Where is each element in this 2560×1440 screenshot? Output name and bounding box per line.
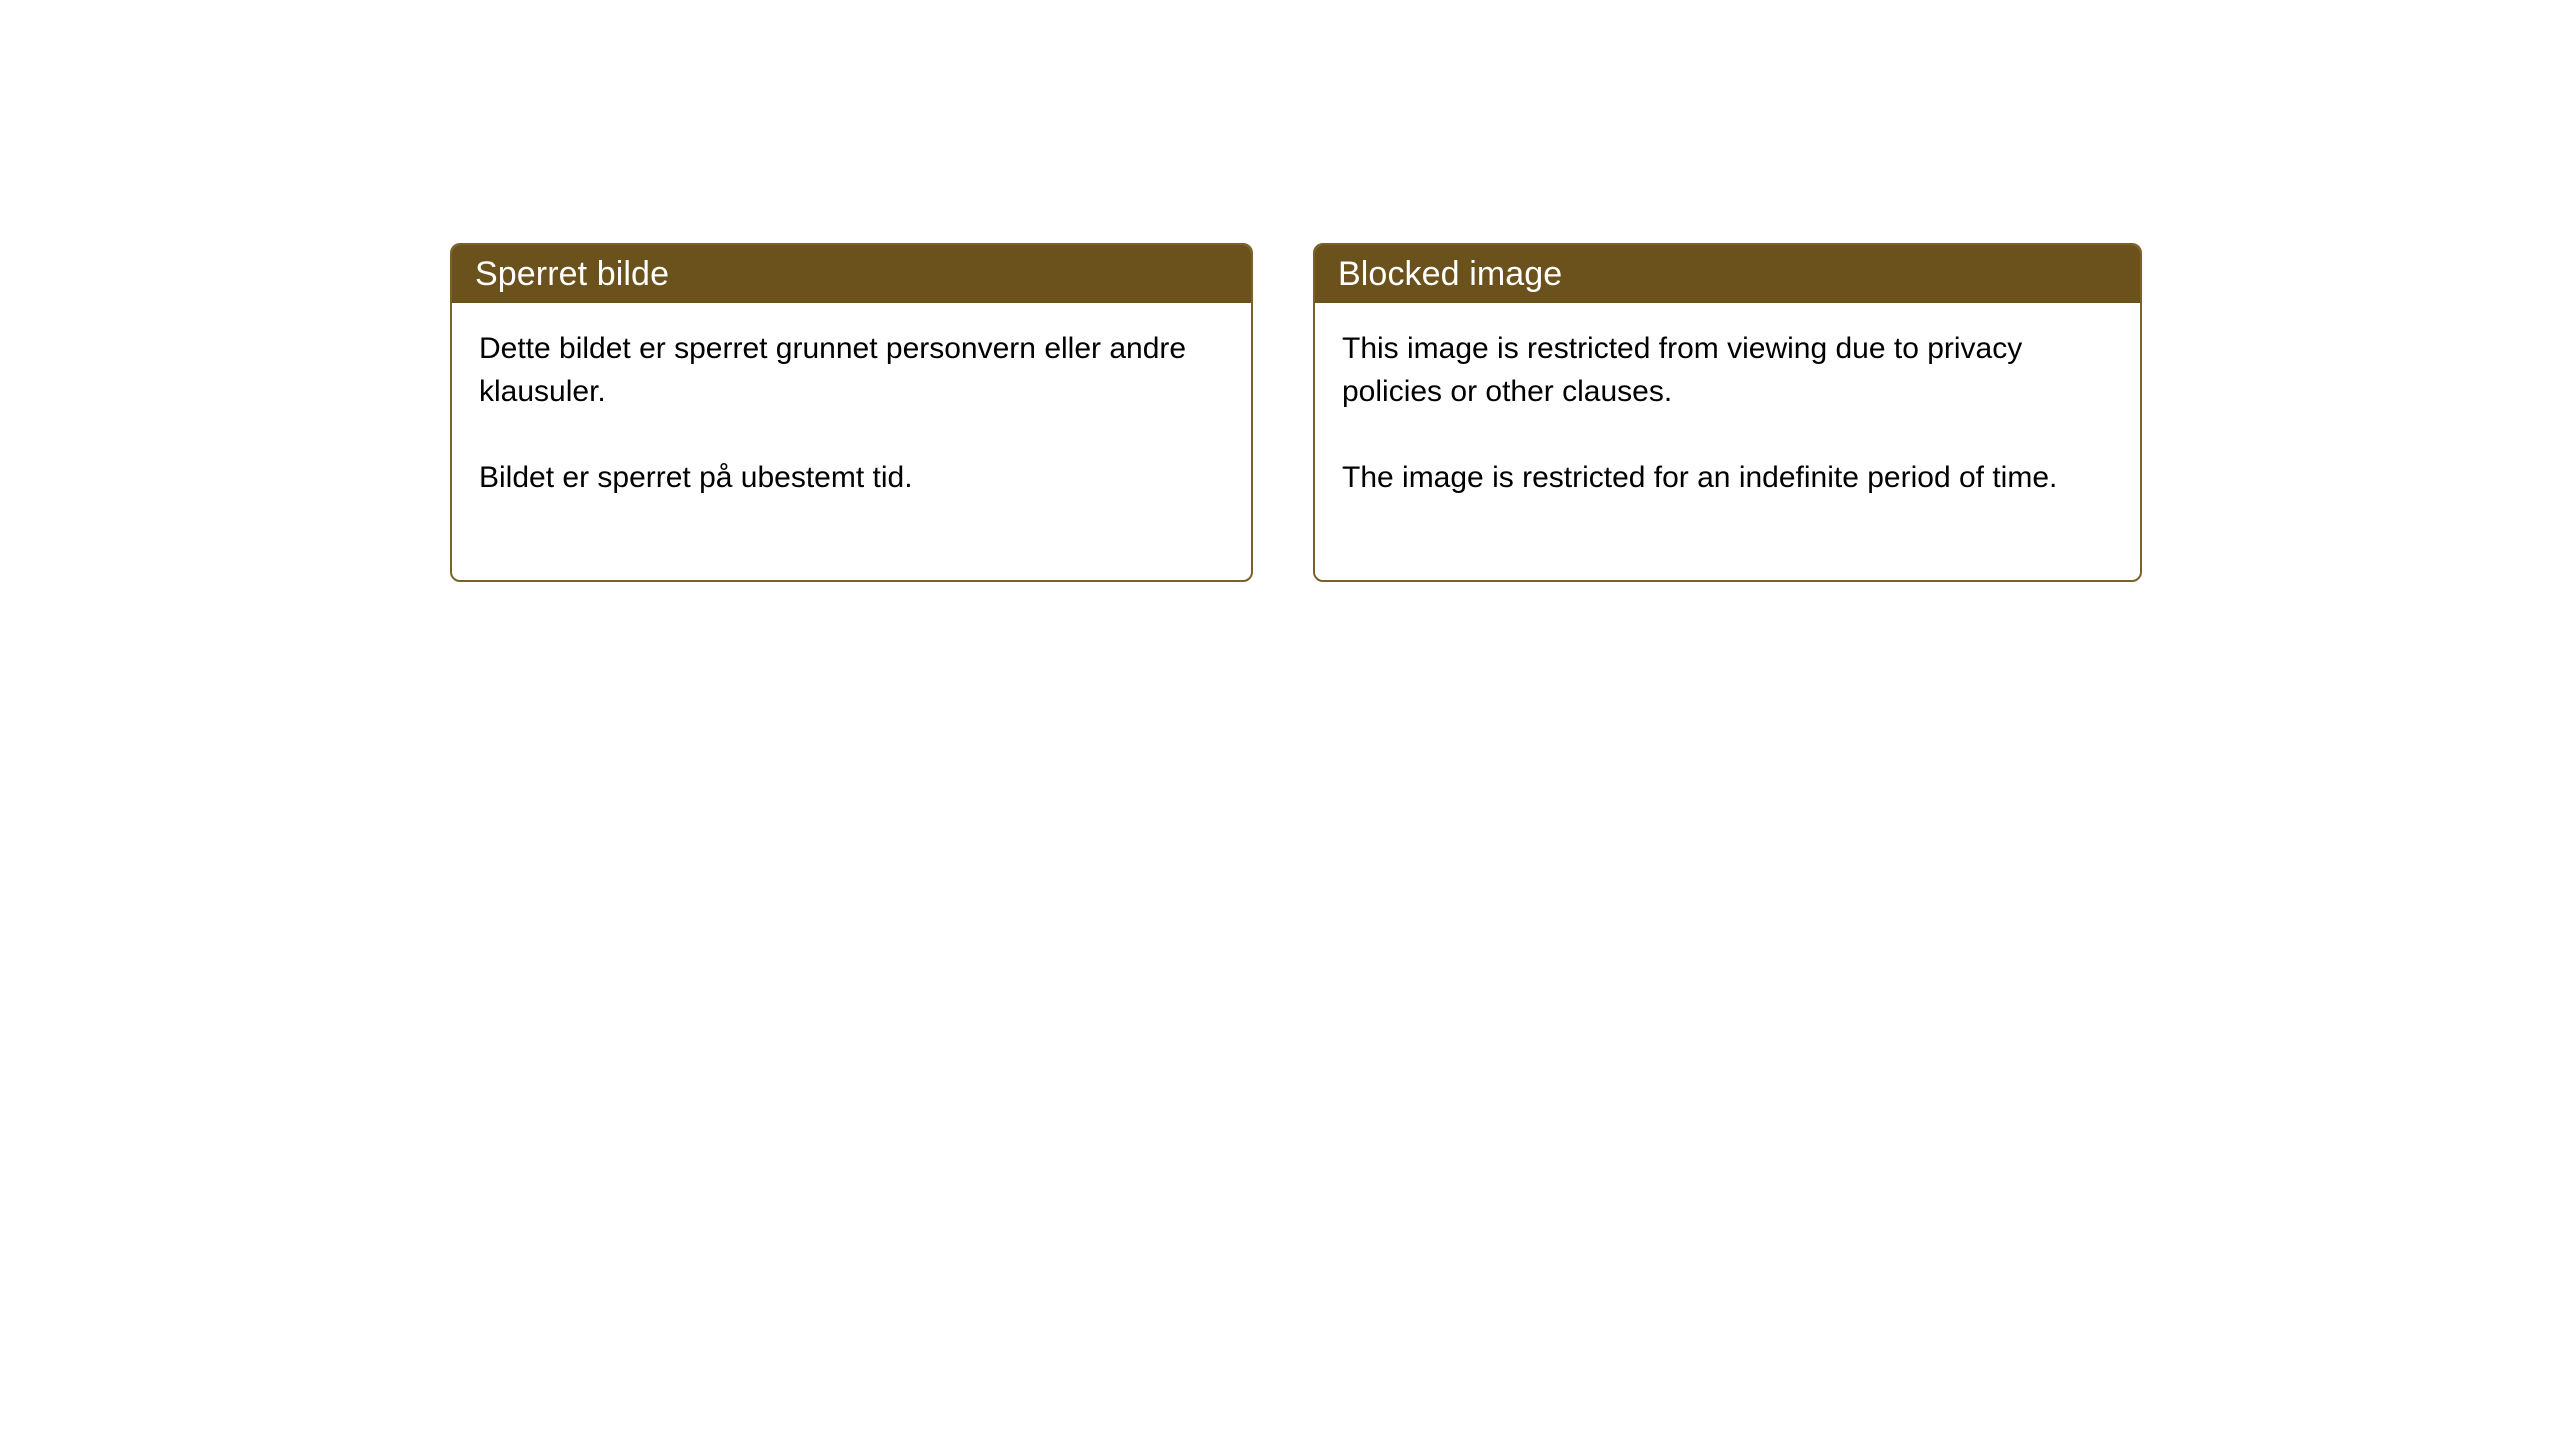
card-body: Dette bildet er sperret grunnet personve… (452, 303, 1251, 499)
card-paragraph-secondary: Bildet er sperret på ubestemt tid. (479, 456, 1231, 499)
card-paragraph-primary: Dette bildet er sperret grunnet personve… (479, 327, 1231, 413)
page-canvas: Sperret bilde Dette bildet er sperret gr… (0, 0, 2560, 1440)
blocked-image-notice-card-english: Blocked image This image is restricted f… (1313, 243, 2142, 582)
card-header-bar: Blocked image (1315, 245, 2140, 303)
card-body: This image is restricted from viewing du… (1315, 303, 2140, 499)
card-paragraph-secondary: The image is restricted for an indefinit… (1342, 456, 2120, 499)
card-paragraph-primary: This image is restricted from viewing du… (1342, 327, 2120, 413)
card-header-bar: Sperret bilde (452, 245, 1251, 303)
card-title: Blocked image (1338, 255, 1562, 293)
blocked-image-notice-card-norwegian: Sperret bilde Dette bildet er sperret gr… (450, 243, 1253, 582)
card-title: Sperret bilde (475, 255, 669, 293)
